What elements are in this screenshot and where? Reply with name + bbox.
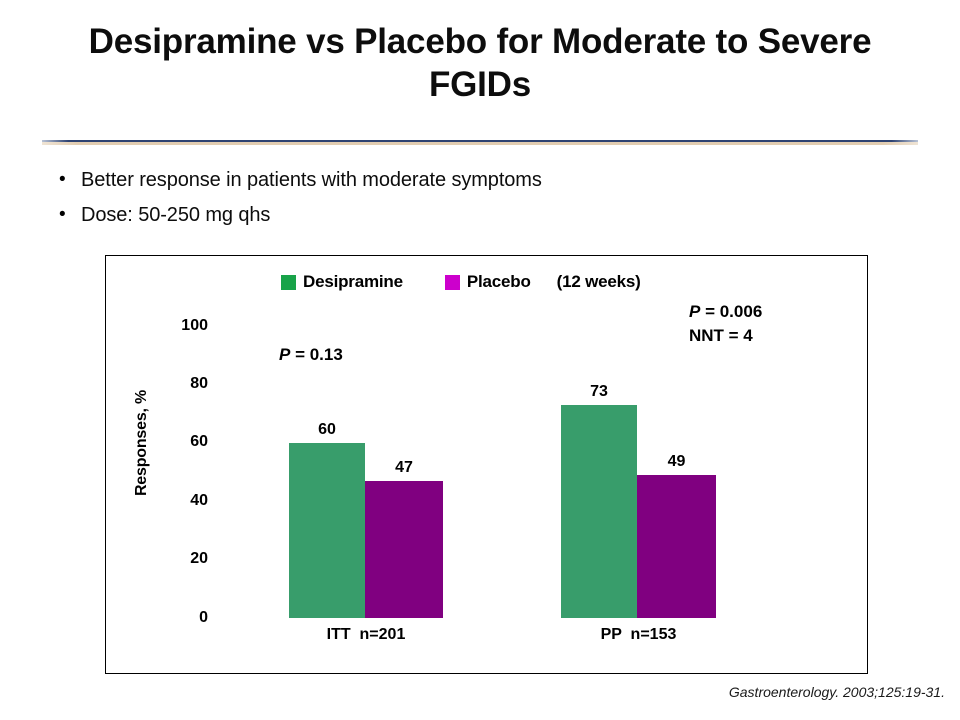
x-tick-label-pp: PP n=153: [561, 626, 716, 644]
bar-wrap-pp-desipramine: 73: [561, 326, 637, 618]
list-item: • Dose: 50-250 mg qhs: [55, 201, 855, 229]
annotation-pp-p-symbol: P: [689, 302, 700, 321]
y-tick-80: 80: [164, 375, 208, 393]
bar-wrap-itt-placebo: 47: [365, 326, 443, 618]
y-tick-0: 0: [164, 609, 208, 627]
x-tick-label-itt: ITT n=201: [289, 626, 443, 644]
bar-value-pp-placebo: 49: [637, 453, 716, 471]
bullet-dot-icon: •: [55, 166, 81, 194]
bar-itt-desipramine: [289, 443, 365, 618]
y-tick-60: 60: [164, 433, 208, 451]
list-item: • Better response in patients with moder…: [55, 166, 855, 194]
title-divider: [42, 140, 918, 145]
bar-itt-placebo: [365, 481, 443, 618]
page-title: Desipramine vs Placebo for Moderate to S…: [40, 20, 920, 107]
bullet-list: • Better response in patients with moder…: [55, 166, 855, 236]
y-axis-label: Responses, %: [133, 363, 151, 523]
bar-pp-placebo: [637, 475, 716, 618]
bar-value-pp-desipramine: 73: [561, 383, 637, 401]
bar-chart: Desipramine Placebo (12 weeks) P = 0.006…: [105, 255, 868, 674]
bar-wrap-itt-desipramine: 60: [289, 326, 365, 618]
bar-value-itt-placebo: 47: [365, 459, 443, 477]
legend-label-desipramine: Desipramine: [303, 272, 403, 292]
legend-period-label: (12 weeks): [557, 272, 641, 292]
bar-wrap-pp-placebo: 49: [637, 326, 716, 618]
legend-item-placebo: Placebo: [445, 272, 531, 292]
annotation-pp-p-number: = 0.006: [705, 302, 762, 321]
divider-line-light: [42, 142, 918, 145]
legend-item-desipramine: Desipramine: [281, 272, 403, 292]
bullet-dot-icon: •: [55, 201, 81, 229]
citation: Gastroenterology. 2003;125:19-31.: [0, 684, 945, 700]
legend-swatch-desipramine-icon: [281, 275, 296, 290]
bar-value-itt-desipramine: 60: [289, 421, 365, 439]
plot-area: 60 47 ITT n=201 73 49 PP n=153: [226, 326, 846, 618]
legend-swatch-placebo-icon: [445, 275, 460, 290]
chart-legend: Desipramine Placebo (12 weeks): [281, 272, 641, 292]
bar-pp-desipramine: [561, 405, 637, 618]
bar-group-pp: 73 49 PP n=153: [561, 326, 716, 618]
bullet-text: Better response in patients with moderat…: [81, 166, 542, 194]
y-tick-20: 20: [164, 550, 208, 568]
bar-group-itt: 60 47 ITT n=201: [289, 326, 443, 618]
y-tick-40: 40: [164, 492, 208, 510]
y-tick-100: 100: [164, 317, 208, 335]
legend-label-placebo: Placebo: [467, 272, 531, 292]
bullet-text: Dose: 50-250 mg qhs: [81, 201, 270, 229]
annotation-pp-pvalue: P = 0.006: [689, 300, 762, 324]
